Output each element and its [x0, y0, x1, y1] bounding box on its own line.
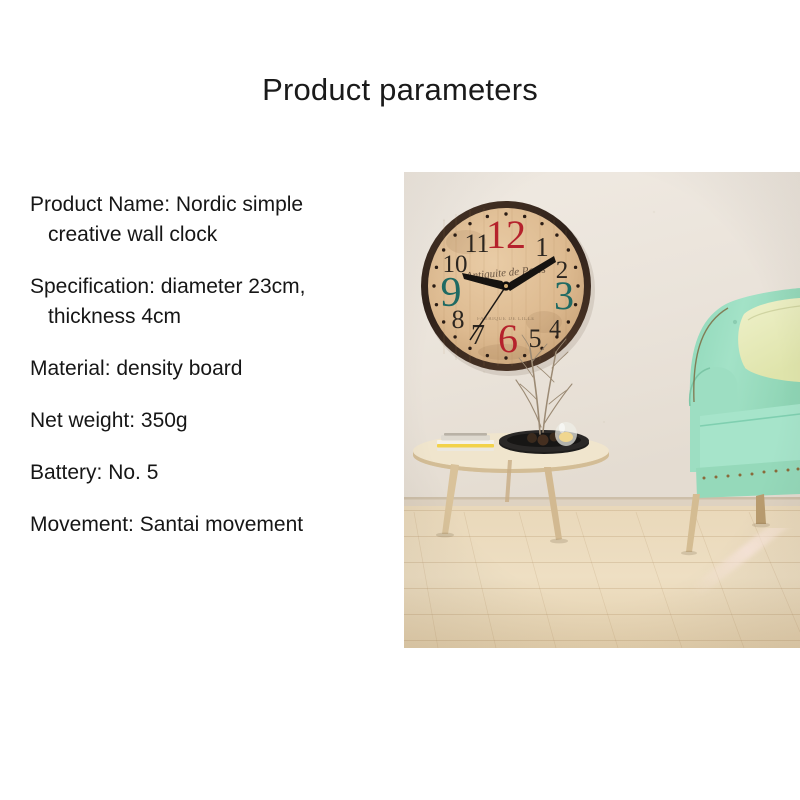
spec-movement: Movement: Santai movement [30, 510, 380, 540]
spec-net-weight: Net weight: 350g [30, 406, 380, 436]
spec-specification: Specification: diameter 23cm, thickness … [30, 272, 380, 332]
spec-battery: Battery: No. 5 [30, 458, 380, 488]
product-photo: 12 1 2 3 4 5 6 7 8 9 10 11 Antiquite de … [404, 172, 800, 648]
spec-product-name: Product Name: Nordic simple creative wal… [30, 190, 380, 250]
spec-material: Material: density board [30, 354, 380, 384]
product-photo-illustration: 12 1 2 3 4 5 6 7 8 9 10 11 Antiquite de … [404, 172, 800, 648]
product-parameters-list: Product Name: Nordic simple creative wal… [30, 190, 380, 540]
page-title: Product parameters [0, 72, 800, 108]
